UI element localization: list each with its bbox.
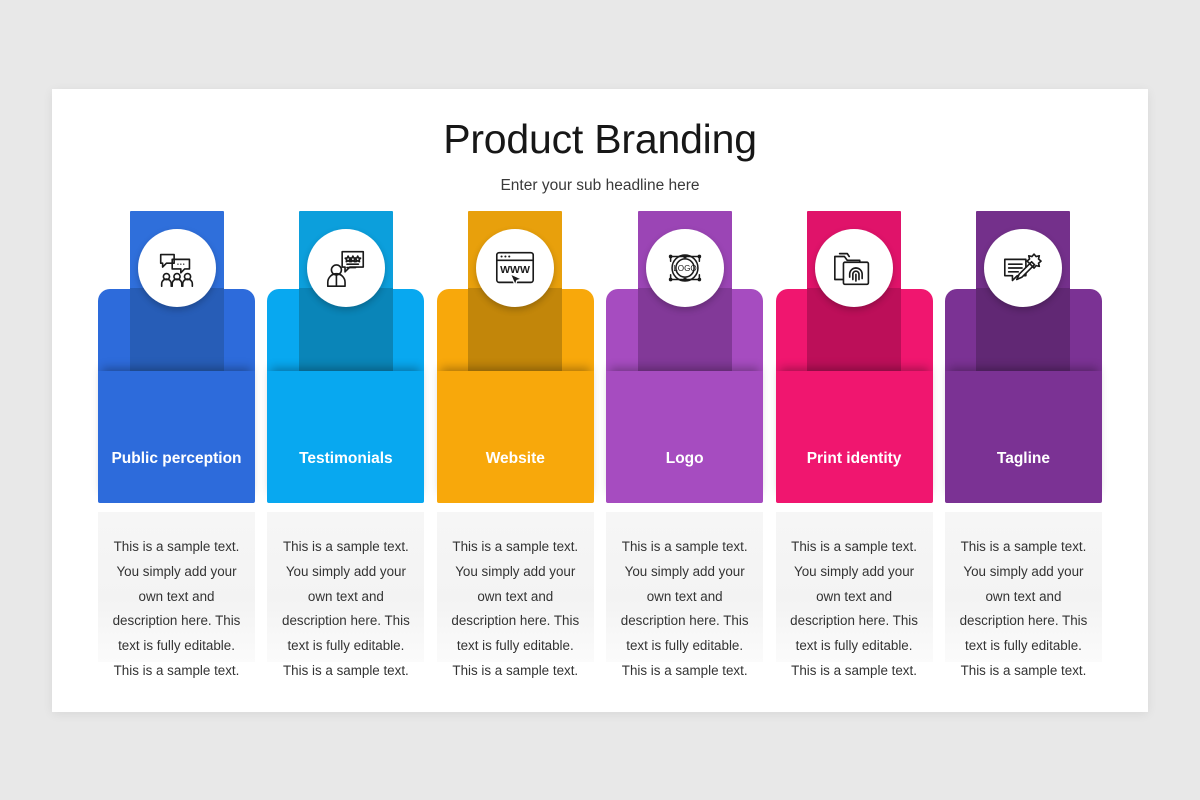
card-text-panel: This is a sample text. You simply add yo… xyxy=(606,512,763,662)
browser-www-cursor-icon: WWW xyxy=(476,229,554,307)
card-body-text: This is a sample text. You simply add yo… xyxy=(448,535,583,684)
card-row: Public perception This is a sample text.… xyxy=(98,211,1102,661)
card-text-panel: This is a sample text. You simply add yo… xyxy=(945,512,1102,662)
pocket-front xyxy=(98,371,255,503)
pocket-front xyxy=(606,371,763,503)
folder-fingerprint-icon xyxy=(815,229,893,307)
card-label: Website xyxy=(437,449,594,470)
pocket-front xyxy=(267,371,424,503)
card-body-text: This is a sample text. You simply add yo… xyxy=(787,535,922,684)
person-review-stars-icon xyxy=(307,229,385,307)
speech-bubble-pencil-badge-icon xyxy=(984,229,1062,307)
card-label: Public perception xyxy=(98,449,255,470)
card-body-text: This is a sample text. You simply add yo… xyxy=(617,535,752,684)
pocket-front xyxy=(945,371,1102,503)
card-text-panel: This is a sample text. You simply add yo… xyxy=(776,512,933,662)
pocket-front xyxy=(437,371,594,503)
card-label: Tagline xyxy=(945,449,1102,470)
card-public-perception[interactable]: Public perception This is a sample text.… xyxy=(98,211,255,661)
speech-bubbles-people-icon xyxy=(138,229,216,307)
card-text-panel: This is a sample text. You simply add yo… xyxy=(98,512,255,662)
page-title: Product Branding xyxy=(52,116,1148,163)
page-subtitle: Enter your sub headline here xyxy=(52,177,1148,195)
card-testimonials[interactable]: Testimonials This is a sample text. You … xyxy=(267,211,424,661)
card-website[interactable]: WWW Website This is a sample text. You s… xyxy=(437,211,594,661)
pocket-front xyxy=(776,371,933,503)
card-body-text: This is a sample text. You simply add yo… xyxy=(278,535,413,684)
card-print-identity[interactable]: Print identity This is a sample text. Yo… xyxy=(776,211,933,661)
svg-text:WWW: WWW xyxy=(500,264,530,276)
logo-vector-nodes-icon: LOGO xyxy=(646,229,724,307)
card-body-text: This is a sample text. You simply add yo… xyxy=(109,535,244,684)
card-body-text: This is a sample text. You simply add yo… xyxy=(956,535,1091,684)
svg-text:LOGO: LOGO xyxy=(673,264,696,273)
card-tagline[interactable]: Tagline This is a sample text. You simpl… xyxy=(945,211,1102,661)
card-text-panel: This is a sample text. You simply add yo… xyxy=(267,512,424,662)
card-logo[interactable]: LOGO Logo This is a sample text. You sim… xyxy=(606,211,763,661)
card-label: Print identity xyxy=(776,449,933,470)
slide-canvas: Product Branding Enter your sub headline… xyxy=(52,89,1148,712)
heading-block: Product Branding Enter your sub headline… xyxy=(52,116,1148,195)
card-label: Testimonials xyxy=(267,449,424,470)
card-label: Logo xyxy=(606,449,763,470)
card-text-panel: This is a sample text. You simply add yo… xyxy=(437,512,594,662)
